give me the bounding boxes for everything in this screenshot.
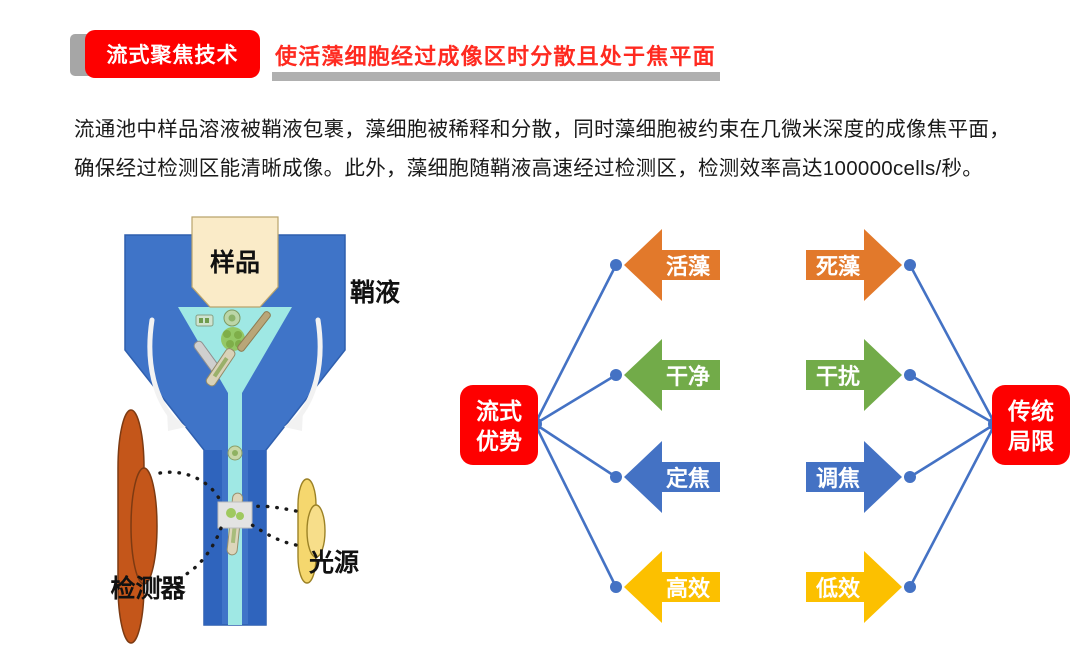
paragraph-line-1: 流通池中样品溶液被鞘液包裹，藻细胞被稀释和分散，同时藻细胞被约束在几微米深度的成… bbox=[74, 110, 1064, 149]
right-arrow-group-1: 干扰 bbox=[806, 339, 902, 411]
connector-lines-left bbox=[535, 265, 616, 587]
left-arrow-group-2: 定焦 bbox=[624, 441, 720, 513]
detector-label: 检测器 bbox=[110, 574, 186, 603]
center-right-line1: 传统 bbox=[1007, 398, 1054, 424]
right-arrow-label-2: 调焦 bbox=[816, 466, 860, 491]
left-arrow-group-0: 活藻 bbox=[624, 229, 720, 301]
sample-label: 样品 bbox=[210, 248, 260, 277]
flow-cell-svg: 样品 鞘液 检测器 光源 bbox=[70, 205, 450, 655]
detector-icon bbox=[118, 410, 157, 643]
left-arrow-group-1: 干净 bbox=[624, 339, 720, 411]
center-left-line1: 流式 bbox=[476, 398, 522, 424]
left-arrow-label-0: 活藻 bbox=[666, 254, 711, 279]
advantage-limitation-diagram: 活藻 干净 定焦 高效 死藻 干扰 调焦 低效 bbox=[450, 205, 1080, 655]
header-subtitle: 使活藻细胞经过成像区时分散且处于焦平面 bbox=[275, 39, 716, 71]
header-underline bbox=[272, 72, 720, 81]
light-source-label: 光源 bbox=[308, 549, 359, 577]
right-arrow-group-2: 调焦 bbox=[806, 441, 902, 513]
center-box-left: 流式 优势 bbox=[460, 385, 538, 465]
detection-window bbox=[218, 502, 252, 528]
node-dots bbox=[528, 259, 1002, 593]
page-header: 流式聚焦技术 使活藻细胞经过成像区时分散且处于焦平面 bbox=[0, 0, 1080, 100]
paragraph-line-2: 确保经过检测区能清晰成像。此外，藻细胞随鞘液高速经过检测区，检测效率高达1000… bbox=[74, 149, 1064, 188]
body-paragraph: 流通池中样品溶液被鞘液包裹，藻细胞被稀释和分散，同时藻细胞被约束在几微米深度的成… bbox=[74, 110, 1064, 188]
right-arrow-label-3: 低效 bbox=[815, 576, 860, 601]
left-arrow-label-3: 高效 bbox=[666, 576, 710, 601]
center-box-right: 传统 局限 bbox=[992, 385, 1070, 465]
center-right-line2: 局限 bbox=[1008, 428, 1054, 454]
left-arrow-group-3: 高效 bbox=[624, 551, 720, 623]
right-arrow-group-0: 死藻 bbox=[806, 229, 902, 301]
right-arrow-label-0: 死藻 bbox=[816, 254, 861, 279]
center-left-line2: 优势 bbox=[476, 428, 522, 454]
right-arrow-group-3: 低效 bbox=[806, 551, 902, 623]
left-arrow-label-2: 定焦 bbox=[666, 466, 710, 491]
fishbone-svg: 活藻 干净 定焦 高效 死藻 干扰 调焦 低效 bbox=[450, 205, 1080, 655]
flow-cell-illustration: 样品 鞘液 检测器 光源 bbox=[70, 205, 450, 655]
header-badge: 流式聚焦技术 bbox=[85, 30, 260, 78]
connector-lines-right bbox=[910, 265, 995, 587]
header-badge-label: 流式聚焦技术 bbox=[107, 39, 239, 69]
sheath-label: 鞘液 bbox=[350, 278, 400, 307]
right-arrow-label-1: 干扰 bbox=[816, 364, 860, 389]
left-arrow-label-1: 干净 bbox=[666, 364, 710, 389]
